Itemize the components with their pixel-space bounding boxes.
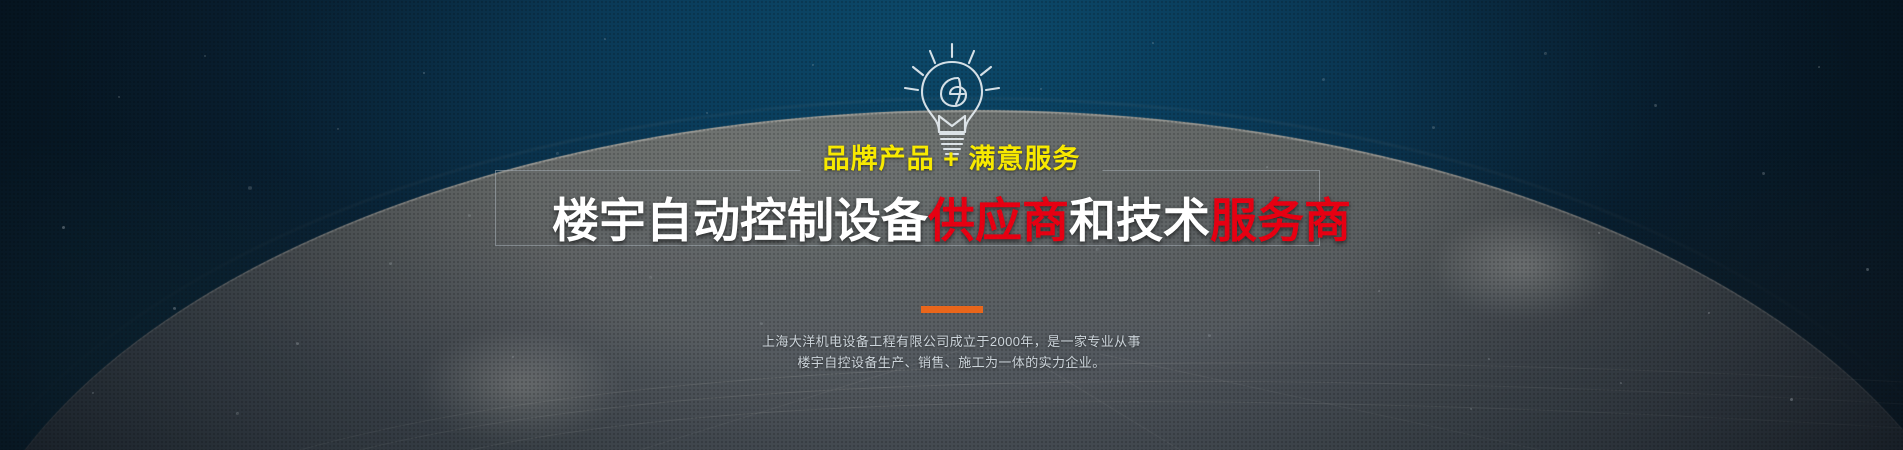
description-line-2: 楼宇自控设备生产、销售、施工为一体的实力企业。 (0, 352, 1903, 373)
headline-part-3: 和技术 (1069, 194, 1210, 247)
headline-part-4: 服务商 (1210, 194, 1351, 247)
tagline-text: 品牌产品 + 满意服务 (801, 142, 1103, 176)
lightbulb-idea-icon (892, 40, 1012, 158)
description-line-1: 上海大洋机电设备工程有限公司成立于2000年，是一家专业从事 (0, 331, 1903, 352)
banner-content: 品牌产品 + 满意服务 楼宇自动控制设备供应商和技术服务商 上海大洋机电设备工程… (0, 0, 1903, 450)
tagline: 品牌产品 + 满意服务 (0, 142, 1903, 176)
headline-part-2: 供应商 (928, 194, 1069, 247)
headline-part-1: 楼宇自动控制设备 (552, 194, 928, 247)
orange-divider (921, 306, 983, 313)
description-block: 上海大洋机电设备工程有限公司成立于2000年，是一家专业从事 楼宇自控设备生产、… (0, 331, 1903, 373)
hero-banner: 品牌产品 + 满意服务 楼宇自动控制设备供应商和技术服务商 上海大洋机电设备工程… (0, 0, 1903, 450)
page-title: 楼宇自动控制设备供应商和技术服务商 (0, 193, 1903, 249)
